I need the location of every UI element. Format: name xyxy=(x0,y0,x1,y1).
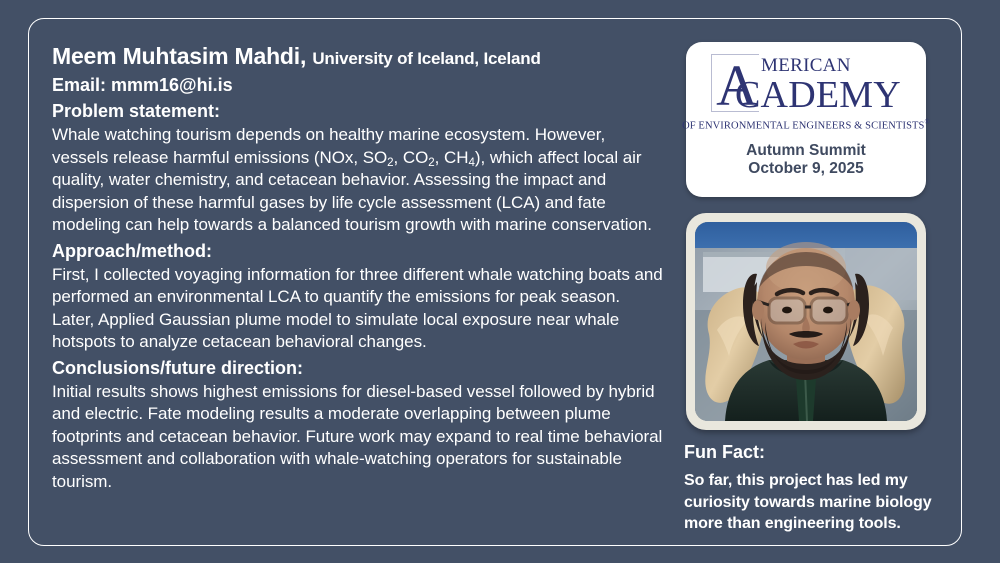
logo-wordmark: MERICAN CADEMY xyxy=(759,54,901,115)
presenter-email: Email: mmm16@hi.is xyxy=(52,73,664,97)
presenter-photo xyxy=(695,222,917,421)
presenter-name-line: Meem Muhtasim Mahdi, University of Icela… xyxy=(52,42,664,71)
approach-method-body: First, I collected voyaging information … xyxy=(52,264,664,354)
so2-subscript: 2 xyxy=(387,157,393,169)
approach-method-heading: Approach/method: xyxy=(52,239,664,263)
presenter-photo-frame xyxy=(686,213,926,430)
problem-statement-body: Whale watching tourism depends on health… xyxy=(52,124,664,236)
logo-tagline: OF ENVIRONMENTAL ENGINEERS & SCIENTISTS® xyxy=(682,118,930,132)
headshot-image xyxy=(695,222,917,421)
problem-text-part2: , CO xyxy=(394,148,429,167)
poster-slide: Meem Muhtasim Mahdi, University of Icela… xyxy=(0,0,1000,563)
fun-fact-heading: Fun Fact: xyxy=(684,441,952,464)
organization-logo-card: A MERICAN CADEMY OF ENVIRONMENTAL ENGINE… xyxy=(686,42,926,197)
aaees-logo-icon: A MERICAN CADEMY xyxy=(699,54,913,114)
logo-word-american: MERICAN xyxy=(761,56,901,75)
logo-tagline-text: OF ENVIRONMENTAL ENGINEERS & SCIENTISTS xyxy=(682,121,924,132)
conclusions-body: Initial results shows highest emissions … xyxy=(52,381,664,493)
co2-subscript: 2 xyxy=(428,157,434,169)
fun-fact-body: So far, this project has led my curiosit… xyxy=(684,470,952,534)
ch4-subscript: 4 xyxy=(468,157,474,169)
logo-word-academy: CADEMY xyxy=(735,76,901,115)
registered-trademark-icon: ® xyxy=(925,118,930,126)
fun-fact-block: Fun Fact: So far, this project has led m… xyxy=(684,441,952,534)
conclusions-heading: Conclusions/future direction: xyxy=(52,356,664,380)
problem-text-part3: , CH xyxy=(435,148,469,167)
presenter-name: Meem Muhtasim Mahdi, xyxy=(52,43,306,69)
event-date: October 9, 2025 xyxy=(746,160,866,179)
event-name: Autumn Summit xyxy=(746,142,866,161)
event-info: Autumn Summit October 9, 2025 xyxy=(746,142,866,180)
presenter-affiliation: University of Iceland, Iceland xyxy=(312,49,540,68)
presenter-text-column: Meem Muhtasim Mahdi, University of Icela… xyxy=(52,42,664,493)
problem-statement-heading: Problem statement: xyxy=(52,99,664,123)
